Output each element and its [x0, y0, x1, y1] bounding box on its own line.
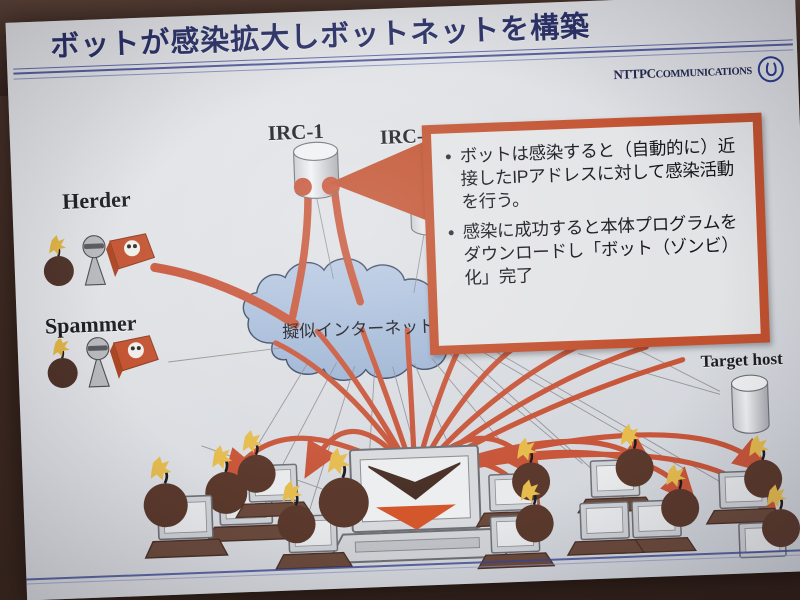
explanation-callout: ボットは感染すると（自動的に）近接したIPアドレスに対して感染活動を行う。 感染…	[422, 113, 770, 356]
projection-area: ボットが感染拡大しボットネットを構築 NTTPCCOMMUNICATIONS	[0, 0, 800, 600]
herder-actor-icon	[43, 231, 156, 286]
target-host-icon	[731, 375, 769, 434]
callout-bullet-list: ボットは感染すると（自動的に）近接したIPアドレスに対して感染活動を行う。 感染…	[443, 134, 748, 290]
callout-bullet: ボットは感染すると（自動的に）近接したIPアドレスに対して感染活動を行う。	[443, 134, 745, 213]
callout-pointer	[328, 139, 433, 227]
herder-label: Herder	[62, 186, 131, 215]
callout-body: ボットは感染すると（自動的に）近接したIPアドレスに対して感染活動を行う。 感染…	[431, 122, 761, 346]
irc-1-label: IRC-1	[267, 119, 324, 146]
callout-bullet: 感染に成功すると本体プログラムをダウンロードし「ボット（ゾンビ）化」完了	[446, 210, 748, 289]
presentation-slide: ボットが感染拡大しボットネットを構築 NTTPCCOMMUNICATIONS	[6, 0, 800, 600]
spammer-actor-icon	[46, 333, 159, 388]
irc-1-server-icon	[292, 141, 340, 199]
photo-stage: ボットが感染拡大しボットネットを構築 NTTPCCOMMUNICATIONS	[0, 0, 800, 600]
spammer-label: Spammer	[44, 310, 137, 339]
target-host-label: Target host	[700, 349, 783, 372]
